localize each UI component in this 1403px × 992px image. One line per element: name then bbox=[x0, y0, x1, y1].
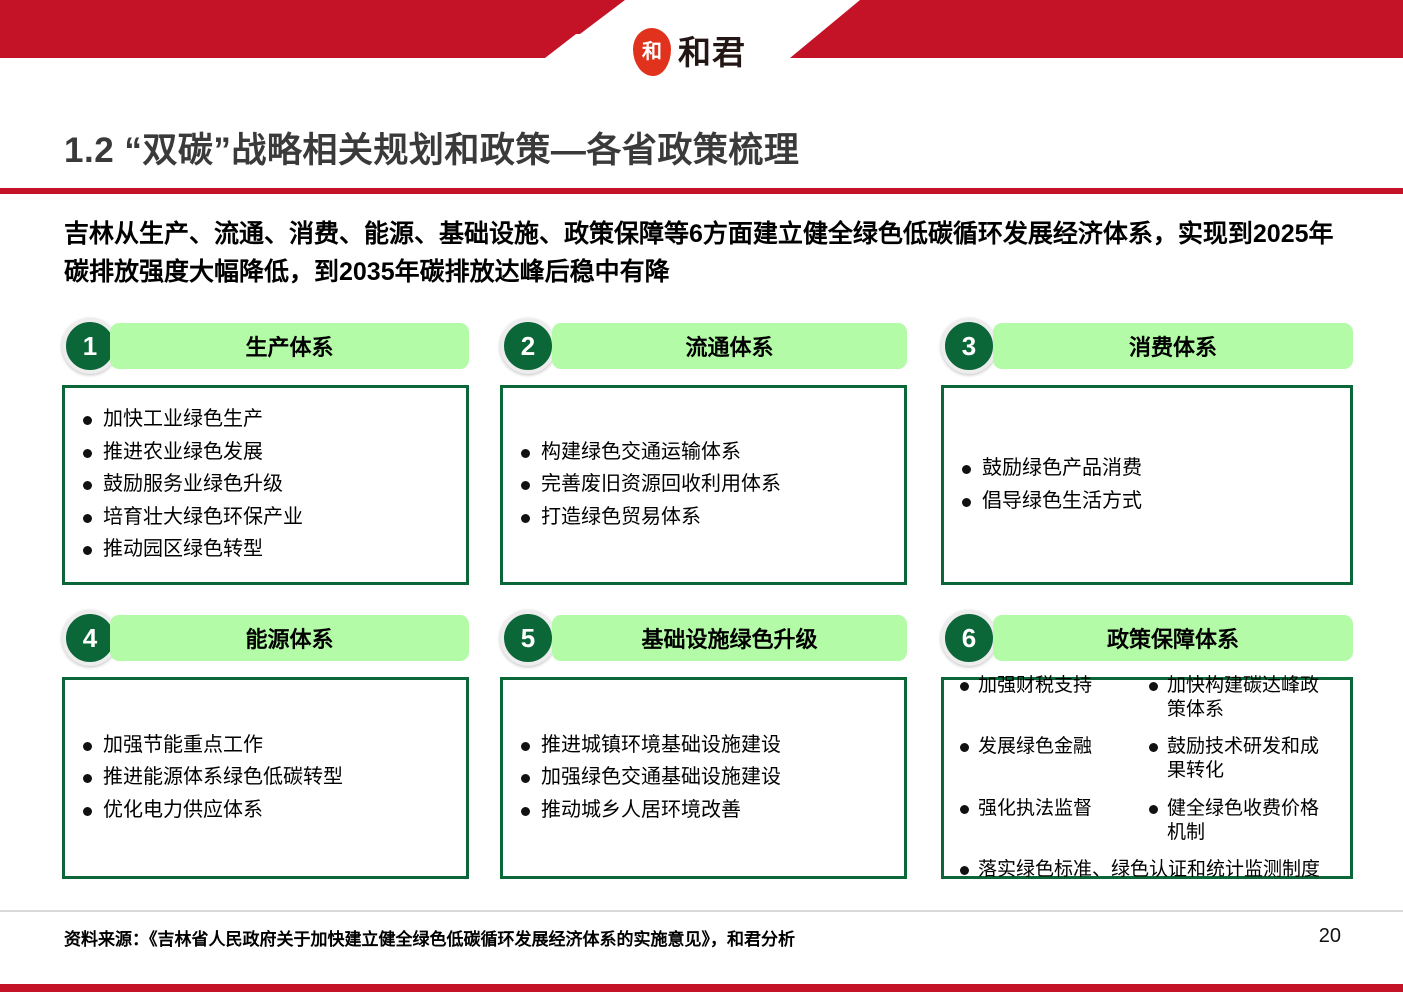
list-item: 培育壮大绿色环保产业 bbox=[79, 505, 452, 531]
list-item: 发展绿色金融 bbox=[958, 735, 1147, 783]
card-energy-system: 4 能源体系 加强节能重点工作 推进能源体系绿色低碳转型 优化电力供应体系 bbox=[62, 610, 469, 879]
bullet-dot-icon bbox=[83, 807, 92, 816]
bottom-accent-bar bbox=[0, 984, 1403, 992]
card-body: 构建绿色交通运输体系 完善废旧资源回收利用体系 打造绿色贸易体系 bbox=[500, 385, 907, 585]
bullet-dot-icon bbox=[521, 807, 530, 816]
list-item-label: 完善废旧资源回收利用体系 bbox=[541, 472, 781, 498]
list-item: 鼓励技术研发和成果转化 bbox=[1147, 735, 1336, 783]
list-item-label: 倡导绿色生活方式 bbox=[982, 489, 1142, 515]
bullet-dot-icon bbox=[83, 546, 92, 555]
card-policy-guarantee-system: 6 政策保障体系 加强财税支持 加快构建碳达峰政策体系 发展绿色金融 鼓励技术研… bbox=[941, 610, 1353, 879]
list-item: 加强财税支持 bbox=[958, 674, 1147, 722]
list-item: 倡导绿色生活方式 bbox=[958, 489, 1336, 515]
footer-divider bbox=[0, 910, 1403, 912]
list-item: 构建绿色交通运输体系 bbox=[517, 440, 890, 466]
bullet-list: 加强节能重点工作 推进能源体系绿色低碳转型 优化电力供应体系 bbox=[79, 726, 452, 831]
list-item: 鼓励绿色产品消费 bbox=[958, 456, 1336, 482]
bullet-dot-icon bbox=[1149, 743, 1158, 752]
list-item: 加快构建碳达峰政策体系 bbox=[1147, 674, 1336, 722]
card-header: 3 消费体系 bbox=[941, 318, 1353, 380]
card-header: 4 能源体系 bbox=[62, 610, 469, 672]
bullet-list: 加快工业绿色生产 推进农业绿色发展 鼓励服务业绿色升级 培育壮大绿色环保产业 推… bbox=[79, 400, 452, 570]
card-number-badge: 6 bbox=[941, 610, 997, 666]
list-item: 推进能源体系绿色低碳转型 bbox=[79, 765, 452, 791]
card-number-badge: 2 bbox=[500, 318, 556, 374]
card-consumption-system: 3 消费体系 鼓励绿色产品消费 倡导绿色生活方式 bbox=[941, 318, 1353, 585]
card-body: 鼓励绿色产品消费 倡导绿色生活方式 bbox=[941, 385, 1353, 585]
card-number-badge: 5 bbox=[500, 610, 556, 666]
card-circulation-system: 2 流通体系 构建绿色交通运输体系 完善废旧资源回收利用体系 打造绿色贸易体系 bbox=[500, 318, 907, 585]
list-item-label: 打造绿色贸易体系 bbox=[541, 505, 701, 531]
page-number: 20 bbox=[1319, 925, 1341, 948]
page-title: 1.2 “双碳”战略相关规划和政策—各省政策梳理 bbox=[64, 122, 799, 173]
card-title: 生产体系 bbox=[110, 323, 469, 369]
bullet-dot-icon bbox=[83, 514, 92, 523]
bullet-dot-icon bbox=[1149, 682, 1158, 691]
card-row-1: 1 生产体系 加快工业绿色生产 推进农业绿色发展 鼓励服务业绿色升级 培育壮大绿… bbox=[0, 318, 1403, 610]
card-body: 加强财税支持 加快构建碳达峰政策体系 发展绿色金融 鼓励技术研发和成果转化 强化… bbox=[941, 677, 1353, 879]
bullet-dot-icon bbox=[83, 449, 92, 458]
list-item: 推动园区绿色转型 bbox=[79, 537, 452, 563]
list-item-label: 优化电力供应体系 bbox=[103, 798, 263, 824]
bullet-dot-icon bbox=[83, 416, 92, 425]
card-body: 加快工业绿色生产 推进农业绿色发展 鼓励服务业绿色升级 培育壮大绿色环保产业 推… bbox=[62, 385, 469, 585]
card-title: 消费体系 bbox=[993, 323, 1353, 369]
bullet-dot-icon bbox=[521, 742, 530, 751]
card-header: 1 生产体系 bbox=[62, 318, 469, 380]
card-row-2: 4 能源体系 加强节能重点工作 推进能源体系绿色低碳转型 优化电力供应体系 5 … bbox=[0, 610, 1403, 902]
card-grid: 1 生产体系 加快工业绿色生产 推进农业绿色发展 鼓励服务业绿色升级 培育壮大绿… bbox=[0, 318, 1403, 902]
card-title: 流通体系 bbox=[552, 323, 907, 369]
card-number-badge: 3 bbox=[941, 318, 997, 374]
card-title: 政策保障体系 bbox=[993, 615, 1353, 661]
list-item-label: 落实绿色标准、绿色认证和统计监测制度 bbox=[978, 858, 1320, 882]
bullet-dot-icon bbox=[83, 481, 92, 490]
card-production-system: 1 生产体系 加快工业绿色生产 推进农业绿色发展 鼓励服务业绿色升级 培育壮大绿… bbox=[62, 318, 469, 585]
list-item: 加强绿色交通基础设施建设 bbox=[517, 765, 890, 791]
list-item-label: 构建绿色交通运输体系 bbox=[541, 440, 741, 466]
list-item: 优化电力供应体系 bbox=[79, 798, 452, 824]
list-item-label: 鼓励服务业绿色升级 bbox=[103, 472, 283, 498]
bullet-list: 鼓励绿色产品消费 倡导绿色生活方式 bbox=[958, 449, 1336, 521]
bullet-dot-icon bbox=[960, 805, 969, 814]
list-item-label: 推动城乡人居环境改善 bbox=[541, 798, 741, 824]
list-item: 健全绿色收费价格机制 bbox=[1147, 797, 1336, 845]
card-title: 能源体系 bbox=[110, 615, 469, 661]
list-item-label: 加强财税支持 bbox=[978, 674, 1092, 698]
banner-left-shape bbox=[0, 0, 620, 58]
list-item-label: 培育壮大绿色环保产业 bbox=[103, 505, 303, 531]
bullet-dot-icon bbox=[960, 682, 969, 691]
list-item-label: 强化执法监督 bbox=[978, 797, 1092, 821]
logo-seal-icon: 和 bbox=[633, 28, 671, 76]
bullet-dot-icon bbox=[521, 774, 530, 783]
bullet-list: 加强财税支持 加快构建碳达峰政策体系 发展绿色金融 鼓励技术研发和成果转化 强化… bbox=[958, 667, 1336, 889]
list-item: 落实绿色标准、绿色认证和统计监测制度 bbox=[958, 858, 1336, 882]
bullet-list: 推进城镇环境基础设施建设 加强绿色交通基础设施建设 推动城乡人居环境改善 bbox=[517, 726, 890, 831]
list-item-label: 发展绿色金融 bbox=[978, 735, 1092, 759]
card-header: 6 政策保障体系 bbox=[941, 610, 1353, 672]
list-item-label: 推进能源体系绿色低碳转型 bbox=[103, 765, 343, 791]
list-item: 打造绿色贸易体系 bbox=[517, 505, 890, 531]
subtitle-text: 吉林从生产、流通、消费、能源、基础设施、政策保障等6方面建立健全绿色低碳循环发展… bbox=[64, 216, 1354, 291]
logo-wordmark: 和君 bbox=[678, 36, 746, 69]
list-item-label: 健全绿色收费价格机制 bbox=[1167, 797, 1336, 845]
list-item-label: 加快构建碳达峰政策体系 bbox=[1167, 674, 1336, 722]
list-item-label: 推动园区绿色转型 bbox=[103, 537, 263, 563]
card-title: 基础设施绿色升级 bbox=[552, 615, 907, 661]
source-note: 资料来源：《吉林省人民政府关于加快建立健全绿色低碳循环发展经济体系的实施意见》，… bbox=[64, 925, 795, 950]
bullet-dot-icon bbox=[83, 742, 92, 751]
card-body: 加强节能重点工作 推进能源体系绿色低碳转型 优化电力供应体系 bbox=[62, 677, 469, 879]
bullet-dot-icon bbox=[1149, 805, 1158, 814]
bullet-dot-icon bbox=[962, 498, 971, 507]
list-item: 强化执法监督 bbox=[958, 797, 1147, 845]
card-infrastructure-upgrade: 5 基础设施绿色升级 推进城镇环境基础设施建设 加强绿色交通基础设施建设 推动城… bbox=[500, 610, 907, 879]
bullet-dot-icon bbox=[962, 465, 971, 474]
list-item-label: 加强绿色交通基础设施建设 bbox=[541, 765, 781, 791]
list-item-label: 鼓励技术研发和成果转化 bbox=[1167, 735, 1336, 783]
bullet-list: 构建绿色交通运输体系 完善废旧资源回收利用体系 打造绿色贸易体系 bbox=[517, 433, 890, 538]
card-header: 2 流通体系 bbox=[500, 318, 907, 380]
title-divider bbox=[0, 188, 1403, 194]
bullet-dot-icon bbox=[521, 449, 530, 458]
bullet-dot-icon bbox=[960, 743, 969, 752]
list-item-label: 鼓励绿色产品消费 bbox=[982, 456, 1142, 482]
card-header: 5 基础设施绿色升级 bbox=[500, 610, 907, 672]
list-item: 加强节能重点工作 bbox=[79, 733, 452, 759]
list-item: 推进城镇环境基础设施建设 bbox=[517, 733, 890, 759]
bullet-dot-icon bbox=[960, 866, 969, 875]
list-item: 加快工业绿色生产 bbox=[79, 407, 452, 433]
brand-logo: 和 和君 bbox=[633, 26, 763, 78]
list-item-label: 推进城镇环境基础设施建设 bbox=[541, 733, 781, 759]
card-body: 推进城镇环境基础设施建设 加强绿色交通基础设施建设 推动城乡人居环境改善 bbox=[500, 677, 907, 879]
bullet-dot-icon bbox=[521, 514, 530, 523]
list-item: 完善废旧资源回收利用体系 bbox=[517, 472, 890, 498]
banner-left-notch-shape bbox=[545, 0, 625, 58]
list-item-label: 推进农业绿色发展 bbox=[103, 440, 263, 466]
list-item: 鼓励服务业绿色升级 bbox=[79, 472, 452, 498]
bullet-dot-icon bbox=[83, 774, 92, 783]
list-item: 推进农业绿色发展 bbox=[79, 440, 452, 466]
list-item-label: 加强节能重点工作 bbox=[103, 733, 263, 759]
list-item-label: 加快工业绿色生产 bbox=[103, 407, 263, 433]
list-item: 推动城乡人居环境改善 bbox=[517, 798, 890, 824]
bullet-dot-icon bbox=[521, 481, 530, 490]
